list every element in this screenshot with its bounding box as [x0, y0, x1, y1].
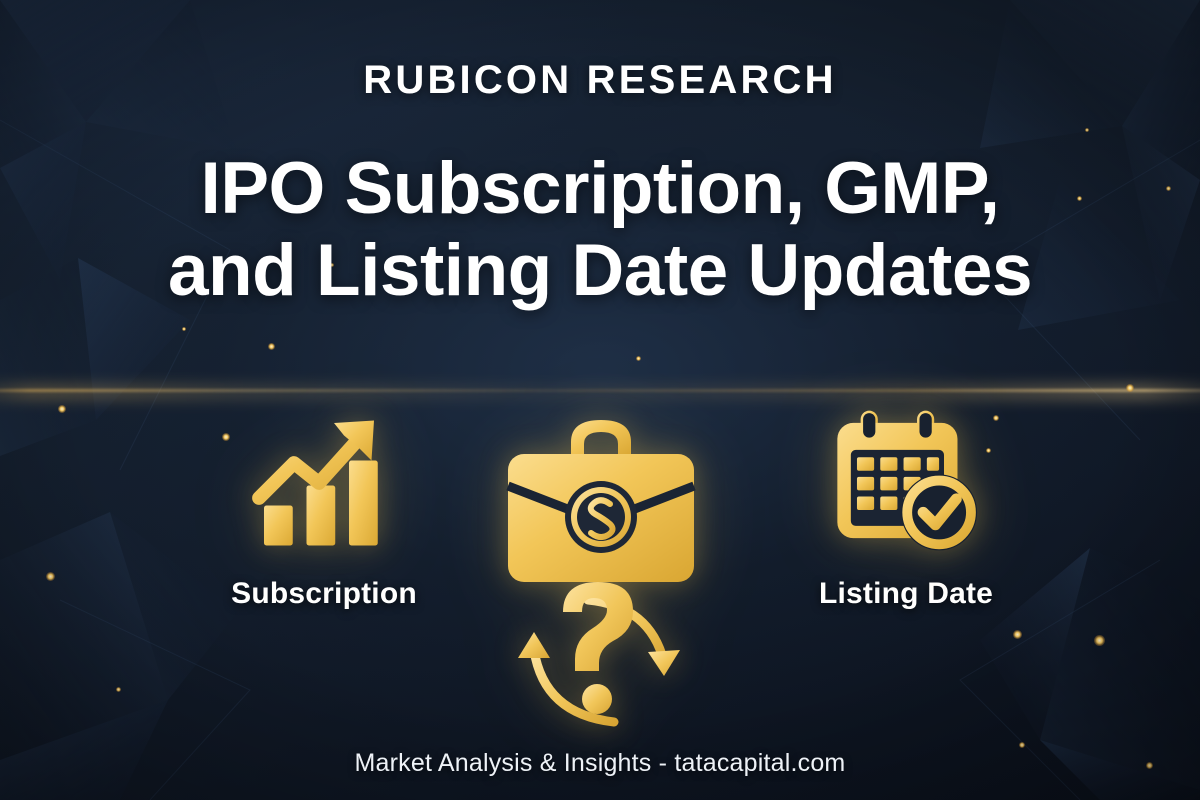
- briefcase-dollar-and-question-refresh-group: [470, 400, 732, 730]
- pillar-listing-date: Listing Date: [770, 408, 1042, 611]
- briefcase-dollar-icon: [508, 420, 694, 582]
- pillar-gmp: [470, 400, 732, 730]
- page-title: IPO Subscription, GMP, and Listing Date …: [0, 148, 1200, 313]
- page-title-line-1: IPO Subscription, GMP,: [201, 148, 1000, 229]
- page-title-line-2: and Listing Date Updates: [0, 230, 1200, 312]
- footer-attribution: Market Analysis & Insights - tatacapital…: [0, 749, 1200, 778]
- calendar-check-icon: [830, 408, 982, 558]
- pillar-subscription: Subscription: [188, 408, 460, 611]
- poster-canvas: RUBICON RESEARCH IPO Subscription, GMP, …: [0, 0, 1200, 800]
- pillar-subscription-label: Subscription: [188, 577, 460, 611]
- brand-eyebrow: RUBICON RESEARCH: [0, 58, 1200, 103]
- growth-bar-chart-icon: [249, 408, 399, 558]
- pillar-listing-date-label: Listing Date: [770, 577, 1042, 611]
